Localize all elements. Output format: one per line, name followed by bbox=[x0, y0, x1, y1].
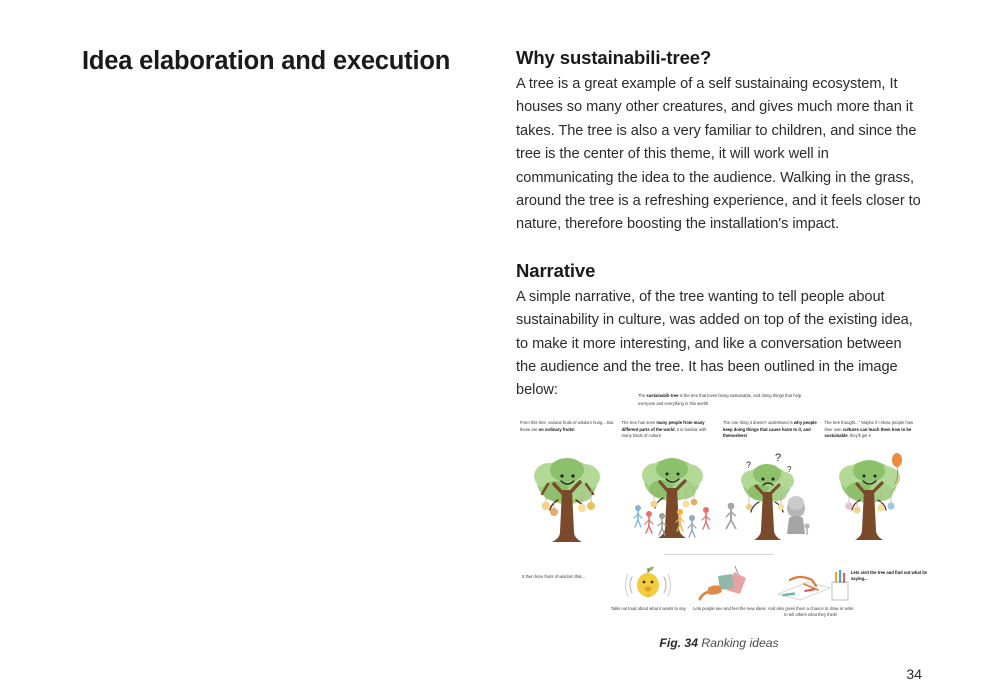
right-column: Why sustainabili-tree? A tree is a great… bbox=[516, 47, 922, 403]
section-body-narrative: A simple narrative, of the tree wanting … bbox=[516, 286, 922, 403]
panel-caption-bold: no ordinary fruits! bbox=[539, 427, 575, 432]
bottom-cell-caption: Lets visit the tree and find out what it… bbox=[851, 570, 941, 583]
panel-caption-text-1: The tree has seen bbox=[622, 420, 657, 425]
svg-text:?: ? bbox=[775, 452, 781, 464]
storyboard-panel: From this tree, various fruits of wisdom… bbox=[516, 420, 618, 560]
storyboard-panel: The tree thought..." Maybe if I show peo… bbox=[821, 420, 923, 560]
chapter-title: Idea elaboration and execution bbox=[82, 46, 462, 77]
tree-with-balloon-icon bbox=[821, 446, 923, 558]
page-number: 34 bbox=[906, 666, 922, 682]
figure-caption-label: Fig. 34 bbox=[659, 636, 698, 650]
panel-caption: The one thing it doesn't understand is w… bbox=[723, 420, 817, 440]
figure-caption: Fig. 34 Ranking ideas bbox=[516, 636, 922, 650]
bottom-cell: And also gives them a chance to draw or … bbox=[760, 564, 841, 630]
bottom-cell: Talks out loud about what it wants to sa… bbox=[597, 564, 678, 630]
section-heading-why-sustainabilitree: Why sustainabili-tree? bbox=[516, 47, 922, 69]
panel-caption: From this tree, various fruits of wisdom… bbox=[520, 420, 614, 433]
storyboard-panels-row: From this tree, various fruits of wisdom… bbox=[516, 420, 922, 560]
left-column: Idea elaboration and execution bbox=[82, 46, 462, 77]
document-page: Idea elaboration and execution Why susta… bbox=[0, 0, 1000, 700]
figure-intro-bold: sustainabili-tree bbox=[646, 393, 678, 398]
confused-tree-with-question-marks-icon: ? ? ? bbox=[719, 446, 821, 558]
bottom-cell: It then bore fruits of wisdom that... bbox=[516, 564, 597, 630]
section-body-why-sustainabilitree: A tree is a great example of a self sust… bbox=[516, 73, 922, 237]
figure-caption-text: Ranking ideas bbox=[701, 636, 778, 650]
figure-storyboard: The sustainabili-tree is the tree that l… bbox=[516, 392, 922, 662]
storyboard-panel: The one thing it doesn't understand is w… bbox=[719, 420, 821, 560]
bottom-cell: Lets visit the tree and find out what it… bbox=[841, 564, 922, 630]
section-heading-narrative: Narrative bbox=[516, 260, 922, 282]
tree-with-people-icon bbox=[618, 446, 720, 558]
svg-text:?: ? bbox=[787, 465, 792, 474]
figure-divider bbox=[664, 554, 774, 555]
panel-caption: The tree thought..." Maybe if I show peo… bbox=[825, 420, 919, 440]
storyboard-panel: The tree has seen many people from many … bbox=[618, 420, 720, 560]
bottom-cell: Lets people see and feel the new ideas bbox=[678, 564, 759, 630]
panel-caption-text-2: , they'll get it bbox=[848, 433, 871, 438]
figure-intro-caption: The sustainabili-tree is the tree that l… bbox=[638, 392, 818, 407]
panel-caption-text-1: The one thing it doesn't understand is bbox=[723, 420, 794, 425]
tree-with-hanging-fruits-icon bbox=[516, 446, 618, 558]
panel-caption: The tree has seen many people from many … bbox=[622, 420, 716, 440]
svg-text:?: ? bbox=[746, 460, 751, 470]
storyboard-bottom-row: It then bore fruits of wisdom that... bbox=[516, 564, 922, 630]
